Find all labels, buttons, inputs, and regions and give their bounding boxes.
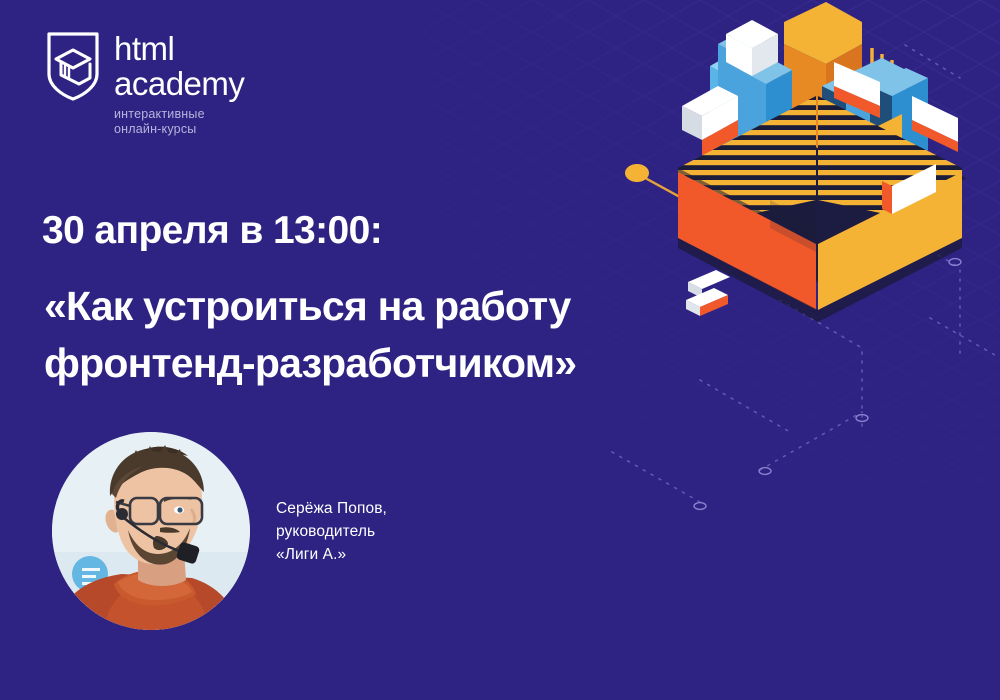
- flag-card-lowleft: [762, 126, 810, 182]
- logo-tagline-line2: онлайн-курсы: [114, 122, 244, 137]
- page-title: «Как устроиться на работу фронтенд-разра…: [44, 278, 744, 392]
- speaker-org: «Лиги А.»: [276, 543, 387, 566]
- box-flap-right: [818, 96, 962, 230]
- title-line-2: фронтенд-разработчиком»: [44, 335, 744, 392]
- panel-yellow-accent: [874, 114, 902, 154]
- html-academy-logo[interactable]: html academy интерактивные онлайн-курсы: [46, 30, 244, 137]
- panel-blue-right-2: [870, 68, 928, 168]
- thin-yellow-lines: [872, 48, 892, 130]
- speaker-block: Серёжа Попов, руководитель «Лиги А.»: [52, 432, 387, 630]
- speaker-role: руководитель: [276, 520, 387, 543]
- box-label: [882, 164, 936, 214]
- logo-word-html: html: [114, 32, 244, 65]
- event-date-time: 30 апреля в 13:00:: [42, 207, 382, 255]
- html-academy-shield-icon: [46, 30, 100, 102]
- webinar-banner: html academy интерактивные онлайн-курсы …: [0, 0, 1000, 700]
- towers-blue-left: [710, 30, 792, 160]
- flag-card-right: [912, 96, 958, 152]
- logo-word-academy: academy: [114, 67, 244, 100]
- avatar: [52, 432, 250, 630]
- box-flap-left: [678, 96, 816, 230]
- flag-card-upper: [834, 62, 880, 118]
- title-line-1: «Как устроиться на работу: [44, 278, 744, 335]
- panel-blue-right: [822, 58, 906, 204]
- speaker-caption: Серёжа Попов, руководитель «Лиги А.»: [276, 497, 387, 566]
- speaker-name: Серёжа Попов,: [276, 497, 387, 520]
- orange-connector-line: [625, 164, 742, 257]
- slabs-white-left: [682, 20, 778, 156]
- logo-tagline-line1: интерактивные: [114, 107, 244, 122]
- tower-orange: [784, 2, 862, 152]
